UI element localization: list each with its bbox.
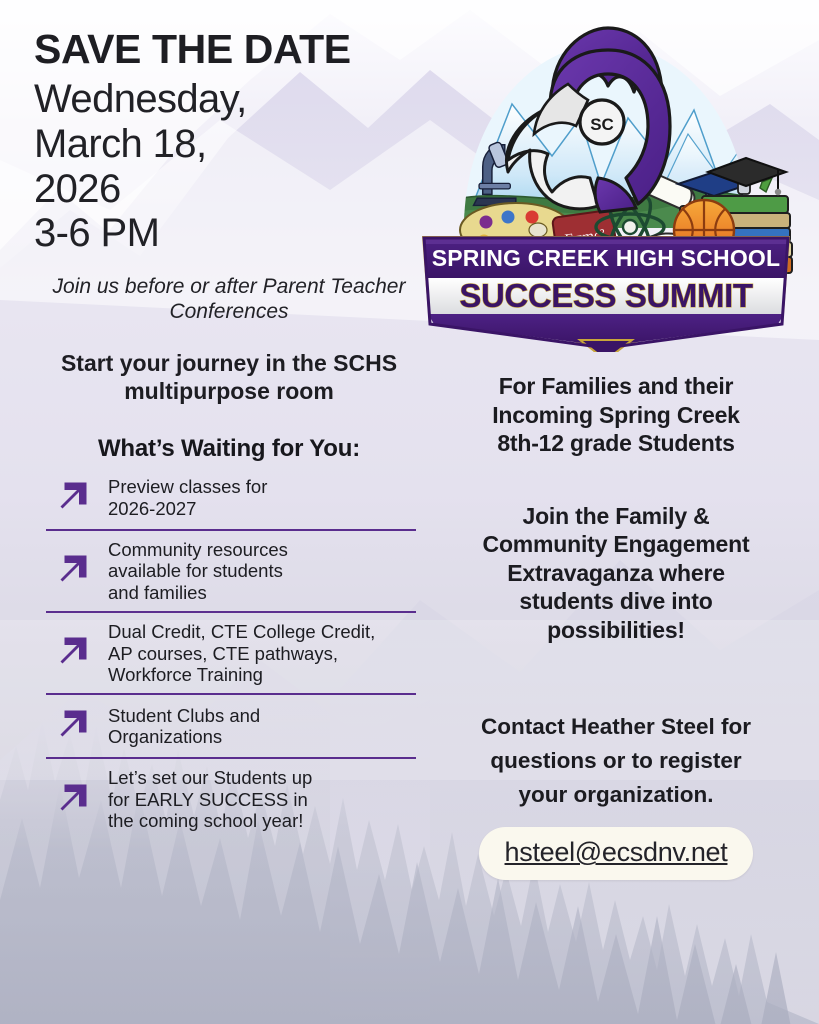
bullet-3-line-2: AP courses, CTE pathways, bbox=[108, 643, 375, 664]
section-heading-whats-waiting: What’s Waiting for You: bbox=[34, 435, 424, 463]
date-line-4: 3-6 PM bbox=[34, 211, 424, 256]
audience-line-1: For Families and their bbox=[430, 372, 802, 401]
arrow-up-right-icon bbox=[48, 703, 94, 749]
contact-line-3: your organization. bbox=[430, 778, 802, 812]
date-line-1: Wednesday, bbox=[34, 77, 424, 122]
bullet-5-line-3: the coming school year! bbox=[108, 810, 312, 831]
list-item: Preview classes for 2026-2027 bbox=[34, 469, 424, 527]
list-item-text: Student Clubs and Organizations bbox=[108, 705, 260, 748]
list-divider bbox=[46, 757, 416, 759]
flyer-page: SAVE THE DATE Wednesday, March 18, 2026 … bbox=[0, 0, 819, 1024]
list-divider bbox=[46, 611, 416, 613]
date-line-2: March 18, bbox=[34, 122, 424, 167]
list-item: Student Clubs and Organizations bbox=[34, 697, 424, 755]
contact-line-2: questions or to register bbox=[430, 744, 802, 778]
conference-note: Join us before or after Parent Teacher C… bbox=[34, 274, 424, 324]
bullet-2-line-2: available for students bbox=[108, 560, 288, 581]
arrow-up-right-icon bbox=[48, 630, 94, 676]
list-item: Community resources available for studen… bbox=[34, 533, 424, 609]
extravaganza-line-1: Join the Family & bbox=[430, 502, 802, 531]
conference-note-line-1: Join us before or after Parent bbox=[53, 275, 325, 298]
success-summit-logo: E=mc² bbox=[402, 22, 810, 352]
audience-line-2: Incoming Spring Creek bbox=[430, 401, 802, 430]
bullet-4-line-2: Organizations bbox=[108, 726, 260, 747]
bullet-2-line-1: Community resources bbox=[108, 539, 288, 560]
extravaganza-line-5: possibilities! bbox=[430, 616, 802, 645]
logo-monogram: SC bbox=[590, 115, 614, 134]
arrow-up-right-icon bbox=[48, 548, 94, 594]
event-date: Wednesday, March 18, 2026 3-6 PM bbox=[34, 77, 424, 256]
logo-banner-top-text: SPRING CREEK HIGH SCHOOL bbox=[432, 245, 781, 271]
list-item: Dual Credit, CTE College Credit, AP cour… bbox=[34, 615, 424, 691]
audience-block: For Families and their Incoming Spring C… bbox=[430, 372, 802, 458]
bullet-1-line-1: Preview classes for bbox=[108, 476, 267, 497]
extravaganza-block: Join the Family & Community Engagement E… bbox=[430, 502, 802, 645]
logo-banner-bottom-text: SUCCESS SUMMIT bbox=[459, 277, 752, 314]
bullet-5-line-2: for EARLY SUCCESS in bbox=[108, 789, 312, 810]
bullet-2-line-3: and families bbox=[108, 582, 288, 603]
arrow-up-right-icon bbox=[48, 475, 94, 521]
list-divider bbox=[46, 693, 416, 695]
date-line-3: 2026 bbox=[34, 167, 424, 212]
benefits-list: Preview classes for 2026-2027 Community … bbox=[34, 469, 424, 838]
list-item-text: Preview classes for 2026-2027 bbox=[108, 476, 267, 519]
arrow-up-right-icon bbox=[48, 777, 94, 823]
logo-banner: SPRING CREEK HIGH SCHOOL SUCCESS SUMMIT bbox=[422, 236, 790, 352]
bullet-5-line-1: Let’s set our Students up bbox=[108, 767, 312, 788]
list-item-text: Let’s set our Students up for EARLY SUCC… bbox=[108, 767, 312, 831]
right-content-column: For Families and their Incoming Spring C… bbox=[430, 372, 802, 880]
bullet-3-line-3: Workforce Training bbox=[108, 664, 375, 685]
bullet-4-line-1: Student Clubs and bbox=[108, 705, 260, 726]
audience-line-3: 8th-12 grade Students bbox=[430, 429, 802, 458]
contact-block: Contact Heather Steel for questions or t… bbox=[430, 710, 802, 811]
list-item: Let’s set our Students up for EARLY SUCC… bbox=[34, 761, 424, 837]
list-item-text: Dual Credit, CTE College Credit, AP cour… bbox=[108, 621, 375, 685]
location-note-line-1: Start your journey in the bbox=[61, 350, 327, 376]
location-note: Start your journey in the SCHS multipurp… bbox=[34, 349, 424, 405]
contact-email-link[interactable]: hsteel@ecsdnv.net bbox=[479, 827, 754, 880]
left-content-column: SAVE THE DATE Wednesday, March 18, 2026 … bbox=[34, 28, 424, 838]
contact-line-1: Contact Heather Steel for bbox=[430, 710, 802, 744]
extravaganza-line-2: Community Engagement bbox=[430, 530, 802, 559]
list-item-text: Community resources available for studen… bbox=[108, 539, 288, 603]
extravaganza-line-3: Extravaganza where bbox=[430, 559, 802, 588]
page-title: SAVE THE DATE bbox=[34, 28, 424, 71]
bullet-1-line-2: 2026-2027 bbox=[108, 498, 267, 519]
list-divider bbox=[46, 529, 416, 531]
bullet-3-line-1: Dual Credit, CTE College Credit, bbox=[108, 621, 375, 642]
extravaganza-line-4: students dive into bbox=[430, 587, 802, 616]
